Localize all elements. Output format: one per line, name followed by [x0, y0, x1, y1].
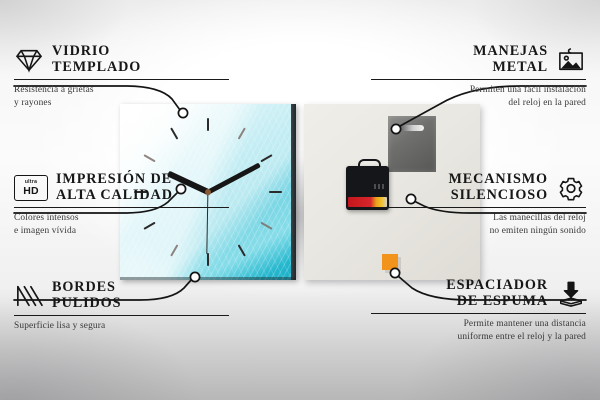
mechanism-hook-loop — [358, 159, 381, 170]
diagonal-lines-icon — [14, 283, 44, 309]
feature-divider — [14, 79, 229, 81]
feature-espaciador-espuma: ESPACIADORDE ESPUMA Permite mantener una… — [371, 278, 586, 344]
feature-title: BORDESPULIDOS — [52, 280, 121, 312]
feature-divider — [371, 207, 586, 209]
feature-title: MECANISMOSILENCIOSO — [448, 172, 548, 204]
feature-bordes-pulidos: BORDESPULIDOS Superficie lisa y segura — [14, 280, 229, 333]
picture-frame-icon — [556, 47, 586, 73]
feature-title: VIDRIOTEMPLADO — [52, 44, 141, 76]
feature-subtitle: Permiten una fácil instalacióndel reloj … — [371, 84, 586, 110]
hanger-slot — [396, 125, 424, 131]
feature-header: MECANISMOSILENCIOSO — [371, 172, 586, 204]
feature-manejas-metal: MANEJASMETAL Permiten una fácil instalac… — [371, 44, 586, 110]
feature-title: MANEJASMETAL — [473, 44, 548, 76]
feature-subtitle: Permite mantener una distanciauniforme e… — [371, 318, 586, 344]
ultra-hd-large-text: HD — [23, 186, 39, 197]
feature-subtitle: Resistencia a grietasy rayones — [14, 84, 229, 110]
feature-header: ultra HD IMPRESIÓN DEALTA CALIDAD — [14, 172, 229, 204]
gear-icon — [556, 175, 586, 201]
ultra-hd-small-text: ultra — [25, 180, 37, 185]
feature-header: MANEJASMETAL — [371, 44, 586, 76]
feature-title: IMPRESIÓN DEALTA CALIDAD — [56, 172, 173, 204]
feature-header: BORDESPULIDOS — [14, 280, 229, 312]
press-down-arrow-icon — [556, 281, 586, 307]
feature-subtitle: Las manecillas del relojno emiten ningún… — [371, 212, 586, 238]
ultra-hd-icon: ultra HD — [14, 175, 48, 201]
feature-header: ESPACIADORDE ESPUMA — [371, 278, 586, 310]
feature-divider — [14, 207, 229, 209]
diamond-icon — [14, 47, 44, 73]
metal-hanger-plate — [388, 116, 436, 172]
feature-header: VIDRIOTEMPLADO — [14, 44, 229, 76]
feature-title: ESPACIADORDE ESPUMA — [446, 278, 548, 310]
infographic-canvas: VIDRIOTEMPLADO Resistencia a grietasy ra… — [0, 0, 600, 400]
feature-impresion-alta-calidad: ultra HD IMPRESIÓN DEALTA CALIDAD Colore… — [14, 172, 229, 238]
feature-mecanismo-silencioso: MECANISMOSILENCIOSO Las manecillas del r… — [371, 172, 586, 238]
feature-subtitle: Colores intensose imagen vívida — [14, 212, 229, 238]
feature-vidrio-templado: VIDRIOTEMPLADO Resistencia a grietasy ra… — [14, 44, 229, 110]
foam-spacer — [382, 254, 398, 270]
feature-divider — [371, 79, 586, 81]
glass-right-edge — [291, 104, 296, 280]
feature-subtitle: Superficie lisa y segura — [14, 320, 229, 333]
feature-divider — [371, 313, 586, 315]
feature-divider — [14, 315, 229, 317]
